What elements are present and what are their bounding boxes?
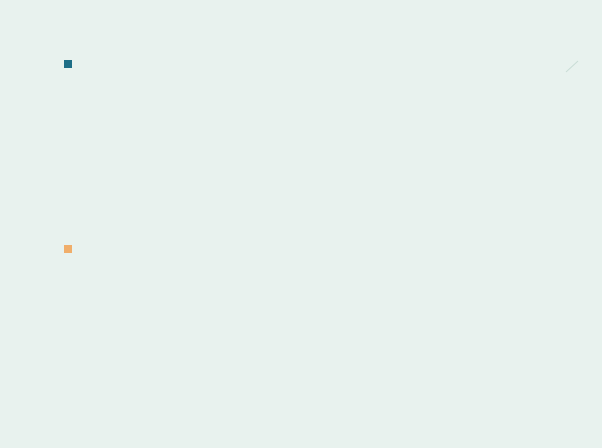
infographic-root [0, 0, 602, 448]
chart-written-premiums [0, 235, 602, 290]
leader-line-debt [0, 48, 602, 223]
chart-payments-and-debt [0, 48, 602, 223]
legend-swatch-premiums [64, 245, 72, 253]
legend-premiums [64, 245, 77, 253]
